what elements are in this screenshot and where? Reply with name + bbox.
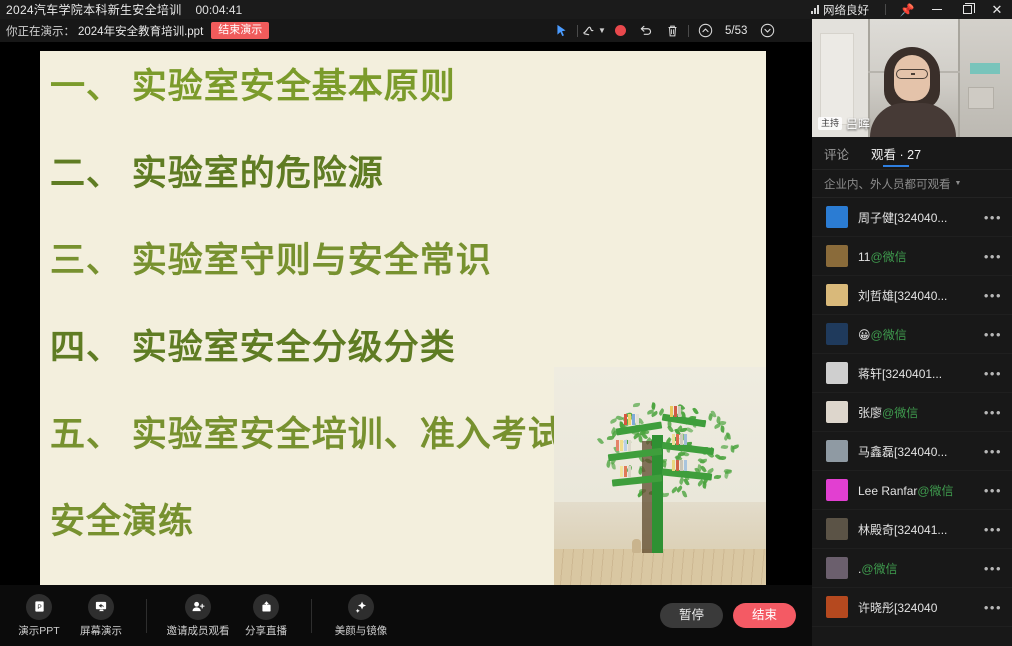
divider: [311, 599, 312, 633]
presentation-stage: 一、 实验室安全基本原则 二、 实验室的危险源 三、 实验室守则与安全常识 四、…: [0, 42, 812, 585]
laser-dot-icon[interactable]: [607, 19, 633, 42]
titlebar-right-controls: 网络良好 📌 ✕: [811, 0, 1012, 19]
books-decor: [672, 434, 687, 445]
books-decor: [620, 466, 631, 477]
participant-name: 林殿奇[324041...: [858, 521, 984, 538]
presentation-toolbar: ▼ 5/53: [548, 19, 812, 42]
participant-row[interactable]: 周子健[324040...•••: [812, 198, 1012, 237]
close-icon[interactable]: ✕: [982, 0, 1012, 19]
leaf-decor: [715, 454, 723, 462]
participant-name: 张廖@微信: [858, 404, 984, 421]
more-horizontal-icon[interactable]: •••: [984, 327, 1002, 342]
leaf-decor: [732, 445, 740, 450]
more-horizontal-icon[interactable]: •••: [984, 210, 1002, 225]
participant-source-label: @微信: [870, 250, 906, 264]
leaf-decor: [596, 437, 603, 445]
visibility-label: 企业内、外人员都可观看: [824, 176, 951, 192]
end-button[interactable]: 结束: [733, 603, 796, 629]
participant-name: 马鑫磊[324040...: [858, 443, 984, 460]
panel-tabs: 评论 观看 · 27: [812, 137, 1012, 170]
leaf-decor: [651, 402, 657, 410]
participant-source-label: @微信: [861, 562, 897, 576]
beauty-mirror-button[interactable]: 美颜与镜像: [326, 594, 396, 638]
participant-row[interactable]: 林殿奇[324041...•••: [812, 510, 1012, 549]
leaf-decor: [720, 425, 725, 433]
participant-row[interactable]: 11@微信•••: [812, 237, 1012, 276]
books-decor: [624, 414, 639, 425]
participant-row[interactable]: 许晓彤[324040•••: [812, 588, 1012, 627]
host-name: 吕晖: [846, 115, 870, 132]
books-decor: [616, 440, 631, 451]
participant-row[interactable]: 刘哲雄[324040...•••: [812, 276, 1012, 315]
title-bar: 2024汽车学院本科新生安全培训 00:04:41 网络良好 📌 ✕: [0, 0, 1012, 19]
books-decor: [672, 460, 687, 471]
avatar: [826, 362, 848, 384]
invite-member-button[interactable]: 邀请成员观看: [161, 594, 235, 638]
elapsed-timer: 00:04:41: [196, 3, 243, 17]
tab-viewers[interactable]: 观看 · 27: [871, 137, 921, 170]
leaf-decor: [681, 490, 687, 498]
leaf-decor: [721, 444, 729, 449]
avatar: [826, 479, 848, 501]
tab-comments[interactable]: 评论: [824, 137, 849, 170]
participant-source-label: @微信: [882, 406, 918, 420]
network-status: 网络良好: [811, 2, 869, 18]
slide-page-indicator: 5/53: [718, 25, 754, 37]
host-badge: 主持: [818, 117, 842, 130]
chevron-down-icon: ▼: [955, 180, 962, 187]
video-bg-decor: [968, 87, 994, 109]
cursor-pointer-icon[interactable]: [548, 19, 574, 42]
chevron-down-icon[interactable]: ▼: [598, 26, 606, 35]
leaf-decor: [679, 427, 686, 431]
screen-share-label: 屏幕演示: [80, 623, 122, 638]
participant-row[interactable]: 张廖@微信•••: [812, 393, 1012, 432]
signal-bars-icon: [811, 5, 819, 14]
divider: [146, 599, 147, 633]
share-live-button[interactable]: 分享直播: [235, 594, 297, 638]
tree-bookshelf-photo: [554, 367, 766, 585]
slide-line-3: 三、 实验室守则与安全常识: [50, 243, 756, 278]
avatar: [826, 323, 848, 345]
bottom-toolbar-group-present: P 演示PPT 屏幕演示: [8, 594, 132, 638]
participant-name: .@微信: [858, 560, 984, 577]
more-horizontal-icon[interactable]: •••: [984, 522, 1002, 537]
more-horizontal-icon[interactable]: •••: [984, 600, 1002, 615]
video-name-overlay: 主持 吕晖: [818, 115, 870, 132]
network-status-label: 网络良好: [823, 2, 869, 18]
divider: [577, 25, 578, 37]
more-horizontal-icon[interactable]: •••: [984, 444, 1002, 459]
leaf-decor: [714, 475, 721, 480]
slide-line-4: 四、 实验室安全分级分类: [50, 330, 756, 365]
chevron-down-circle-icon[interactable]: [754, 19, 780, 42]
divider: [885, 4, 886, 15]
participant-row[interactable]: 蒋轩[3240401...•••: [812, 354, 1012, 393]
participant-source-label: @微信: [871, 328, 907, 342]
invite-member-icon: [185, 594, 211, 620]
pin-icon[interactable]: 📌: [892, 0, 922, 19]
present-ppt-button[interactable]: P 演示PPT: [8, 594, 70, 638]
host-video-tile[interactable]: 主持 吕晖: [812, 19, 1012, 137]
slide-canvas[interactable]: 一、 实验室安全基本原则 二、 实验室的危险源 三、 实验室守则与安全常识 四、…: [40, 51, 766, 585]
video-bg-decor: [820, 33, 854, 125]
presenting-label: 你正在演示：: [6, 23, 75, 39]
pen-scribble-icon[interactable]: ▼: [581, 19, 607, 42]
more-horizontal-icon[interactable]: •••: [984, 483, 1002, 498]
invite-member-label: 邀请成员观看: [167, 623, 230, 638]
beauty-mirror-icon: [348, 594, 374, 620]
avatar: [826, 557, 848, 579]
pause-button[interactable]: 暂停: [660, 603, 723, 629]
page-title: 2024汽车学院本科新生安全培训: [6, 1, 182, 18]
avatar: [826, 440, 848, 462]
trash-icon[interactable]: [659, 19, 685, 42]
participant-list[interactable]: 周子健[324040...•••11@微信•••刘哲雄[324040...•••…: [812, 198, 1012, 646]
more-horizontal-icon[interactable]: •••: [984, 249, 1002, 264]
participant-row[interactable]: Lee Ranfar@微信•••: [812, 471, 1012, 510]
participant-name: 许晓彤[324040: [858, 599, 984, 616]
participant-name: 11@微信: [858, 248, 984, 265]
glasses-icon: [896, 69, 928, 79]
participant-name: 😀@微信: [858, 326, 984, 343]
undo-icon[interactable]: [633, 19, 659, 42]
participant-name: Lee Ranfar@微信: [858, 482, 984, 499]
share-live-icon: [253, 594, 279, 620]
leaf-decor: [722, 433, 729, 441]
avatar: [826, 245, 848, 267]
participant-row[interactable]: .@微信•••: [812, 549, 1012, 588]
video-bg-decor: [958, 19, 960, 137]
avatar: [826, 401, 848, 423]
share-live-label: 分享直播: [245, 623, 287, 638]
bottom-toolbar-group-beauty: 美颜与镜像: [326, 594, 396, 638]
svg-text:P: P: [37, 604, 41, 611]
chevron-up-circle-icon[interactable]: [692, 19, 718, 42]
leaf-decor: [633, 403, 640, 407]
more-horizontal-icon[interactable]: •••: [984, 288, 1002, 303]
books-decor: [670, 406, 681, 417]
cat-decor: [632, 539, 641, 553]
floor-decor: [554, 549, 766, 585]
leaf-decor: [699, 458, 706, 463]
slide-line-2: 二、 实验室的危险源: [50, 156, 756, 191]
live-broadcast-window: 2024汽车学院本科新生安全培训 00:04:41 网络良好 📌 ✕ 你正在演示…: [0, 0, 1012, 646]
minimize-icon[interactable]: [922, 0, 952, 19]
screen-share-icon: [88, 594, 114, 620]
maximize-icon[interactable]: [952, 0, 982, 19]
ppt-icon: P: [26, 594, 52, 620]
participant-row[interactable]: 马鑫磊[324040...•••: [812, 432, 1012, 471]
participant-row[interactable]: 😀@微信•••: [812, 315, 1012, 354]
video-bg-decor: [970, 63, 1000, 74]
avatar: [826, 518, 848, 540]
avatar: [826, 596, 848, 618]
leaf-decor: [692, 407, 699, 415]
presenting-filename: 2024年安全教育培训.ppt: [78, 23, 203, 39]
more-horizontal-icon[interactable]: •••: [984, 405, 1002, 420]
stop-presenting-button[interactable]: 结束演示: [211, 22, 269, 39]
more-horizontal-icon[interactable]: •••: [984, 561, 1002, 576]
participant-source-label: @微信: [917, 484, 953, 498]
bottom-toolbar: P 演示PPT 屏幕演示 邀请成员观看: [0, 585, 812, 646]
avatar: [826, 206, 848, 228]
more-horizontal-icon[interactable]: •••: [984, 366, 1002, 381]
video-bg-decor: [960, 19, 1012, 137]
participant-name: 刘哲雄[324040...: [858, 287, 984, 304]
participant-name: 蒋轩[3240401...: [858, 365, 984, 382]
screen-share-button[interactable]: 屏幕演示: [70, 594, 132, 638]
visibility-selector[interactable]: 企业内、外人员都可观看 ▼: [812, 170, 1012, 198]
participant-name: 周子健[324040...: [858, 209, 984, 226]
right-panel: 主持 吕晖 评论 观看 · 27 企业内、外人员都可观看 ▼ 周子健[32404…: [812, 19, 1012, 646]
slide-line-1: 一、 实验室安全基本原则: [50, 69, 756, 104]
divider: [688, 25, 689, 37]
present-ppt-label: 演示PPT: [18, 623, 59, 638]
avatar: [826, 284, 848, 306]
beauty-mirror-label: 美颜与镜像: [335, 623, 388, 638]
bottom-toolbar-group-invite: 邀请成员观看 分享直播: [161, 594, 297, 638]
